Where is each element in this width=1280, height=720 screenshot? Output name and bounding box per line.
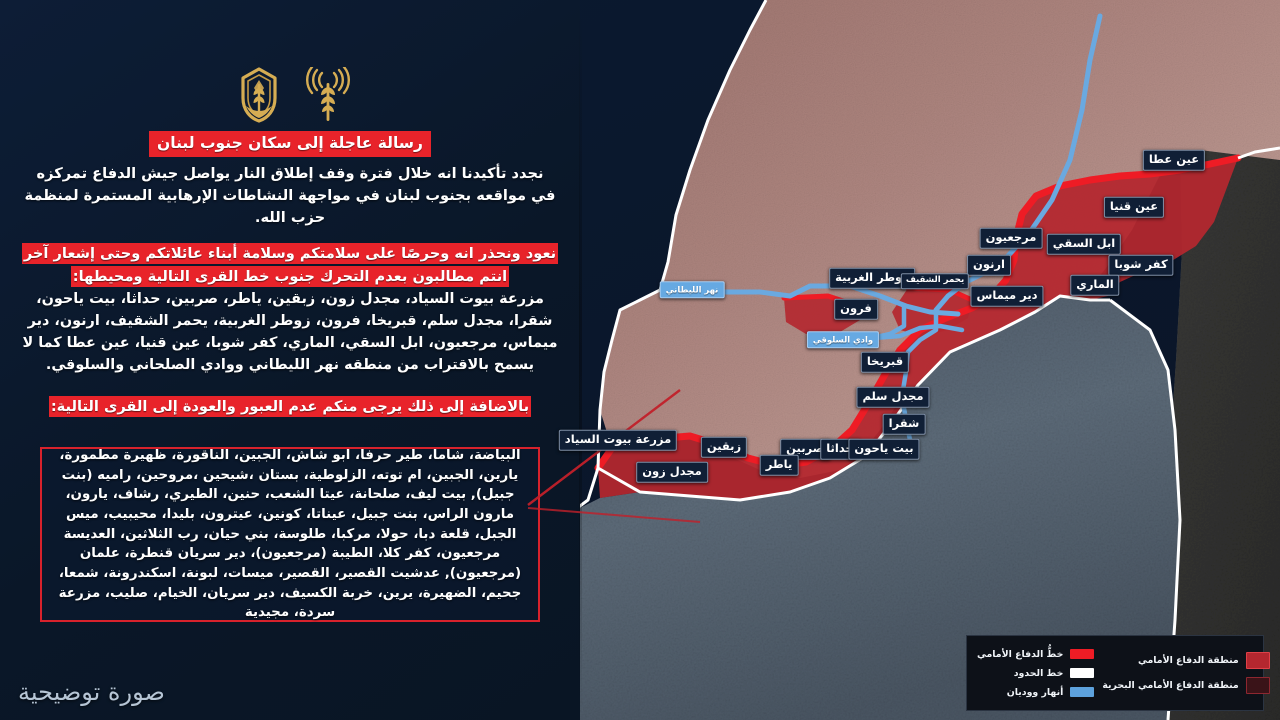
legend-label-front-defense-zone: منطقة الدفاع الأمامي bbox=[1138, 655, 1239, 666]
map-label-mazraat-bayut-sayyad[interactable]: مزرعة بيوت السياد bbox=[559, 430, 677, 451]
map-label-yohmor-el-shaqif[interactable]: يحمر الشقيف bbox=[901, 273, 969, 289]
map-label-shaqra[interactable]: شقرا bbox=[883, 414, 926, 435]
legend-item-naval-defense-zone[interactable]: منطقة الدفاع الأمامي البحرية bbox=[1102, 677, 1269, 694]
map-label-deir-mimas[interactable]: دير ميماس bbox=[970, 286, 1043, 307]
map-label-zebqine[interactable]: زبقين bbox=[701, 437, 747, 458]
village-list-box: البياضة، شاما، طير حرفا، ابو شاش، الجبين… bbox=[40, 447, 540, 622]
legend-column-left: منطقة الدفاع الأمامي منطقة الدفاع الأمام… bbox=[1102, 644, 1269, 702]
map-label-abel-el-saqi[interactable]: ابل السقي bbox=[1047, 234, 1121, 255]
legend-item-front-defense-zone[interactable]: منطقة الدفاع الأمامي bbox=[1102, 652, 1269, 669]
map-label-wadi-saluqi[interactable]: وادي السلوقي bbox=[807, 331, 879, 348]
emblem-row bbox=[0, 62, 580, 132]
map-legend: خطُّ الدفاع الأمامي خط الحدود أنهار وودي… bbox=[966, 635, 1264, 711]
legend-label-rivers-and-valleys: أنهار ووديان bbox=[1007, 687, 1064, 698]
map-label-qabrikha[interactable]: قبريخا bbox=[861, 352, 909, 373]
paragraph-3-village-line: مزرعة بيوت السياد، مجدل زون، زبقين، ياطر… bbox=[22, 289, 558, 377]
legend-column-right: خطُّ الدفاع الأمامي خط الحدود أنهار وودي… bbox=[977, 644, 1094, 702]
map-label-froun[interactable]: فرون bbox=[834, 299, 878, 320]
paragraph-2-text: نعود ونحذر انه وحرصًا على سلامتكم وسلامة… bbox=[24, 245, 556, 285]
broadcast-icon bbox=[306, 67, 350, 127]
paragraph-2-highlighted: نعود ونحذر انه وحرصًا على سلامتكم وسلامة… bbox=[22, 243, 558, 288]
map-label-litani-river[interactable]: نهر الليطاني bbox=[660, 281, 725, 298]
headline-wrapper: رسالة عاجلة إلى سكان جنوب لبنان bbox=[0, 131, 580, 157]
legend-label-naval-defense-zone: منطقة الدفاع الأمامي البحرية bbox=[1102, 680, 1238, 691]
screenshot-root: عين عطا عين قنيا مرجعيون ابل السقي كفر ش… bbox=[0, 0, 1280, 720]
map-label-el-mari[interactable]: الماري bbox=[1070, 275, 1119, 296]
legend-item-rivers-and-valleys[interactable]: أنهار ووديان bbox=[977, 687, 1094, 698]
legend-label-border-line: خط الحدود bbox=[1014, 668, 1064, 679]
illustrative-image-watermark: صورة توضيحية bbox=[18, 678, 165, 706]
map-label-majdal-selm[interactable]: مجدل سلم bbox=[856, 387, 929, 408]
legend-item-front-defense-line[interactable]: خطُّ الدفاع الأمامي bbox=[977, 649, 1094, 660]
map-label-majdal-zoun[interactable]: مجدل زون bbox=[636, 462, 708, 483]
map-label-ein-ata[interactable]: عين عطا bbox=[1143, 150, 1205, 171]
map-label-ein-qenya[interactable]: عين قنيا bbox=[1104, 197, 1164, 218]
message-panel: رسالة عاجلة إلى سكان جنوب لبنان نجدد تأك… bbox=[0, 0, 580, 720]
rivers-swatch-icon bbox=[1070, 687, 1094, 697]
legend-label-front-defense-line: خطُّ الدفاع الأمامي bbox=[977, 649, 1063, 660]
map-label-arnoun[interactable]: ارنون bbox=[967, 255, 1011, 276]
map-label-marjayoun[interactable]: مرجعيون bbox=[980, 228, 1043, 249]
border-line-swatch-icon bbox=[1070, 668, 1094, 678]
map-label-yater[interactable]: ياطر bbox=[760, 455, 799, 476]
paragraph-4-highlighted: بالاضافة إلى ذلك يرجى منكم عدم العبور وا… bbox=[22, 396, 558, 419]
map-label-kfar-shouba[interactable]: كفر شوبا bbox=[1108, 255, 1173, 276]
village-list-text: البياضة، شاما، طير حرفا، ابو شاش، الجبين… bbox=[42, 442, 538, 627]
legend-item-border-line[interactable]: خط الحدود bbox=[977, 668, 1094, 679]
front-defense-zone-swatch-icon bbox=[1246, 652, 1270, 669]
paragraph-1: نجدد تأكيدنا انه خلال فترة وقف إطلاق الن… bbox=[22, 163, 558, 229]
map-label-beit-yahoun[interactable]: بيت ياحون bbox=[848, 439, 919, 460]
paragraph-4-text: بالاضافة إلى ذلك يرجى منكم عدم العبور وا… bbox=[51, 398, 529, 415]
idf-insignia-icon bbox=[230, 66, 288, 128]
page-title: رسالة عاجلة إلى سكان جنوب لبنان bbox=[149, 131, 431, 157]
naval-defense-zone-swatch-icon bbox=[1246, 677, 1270, 694]
front-defense-line-swatch-icon bbox=[1070, 649, 1094, 659]
